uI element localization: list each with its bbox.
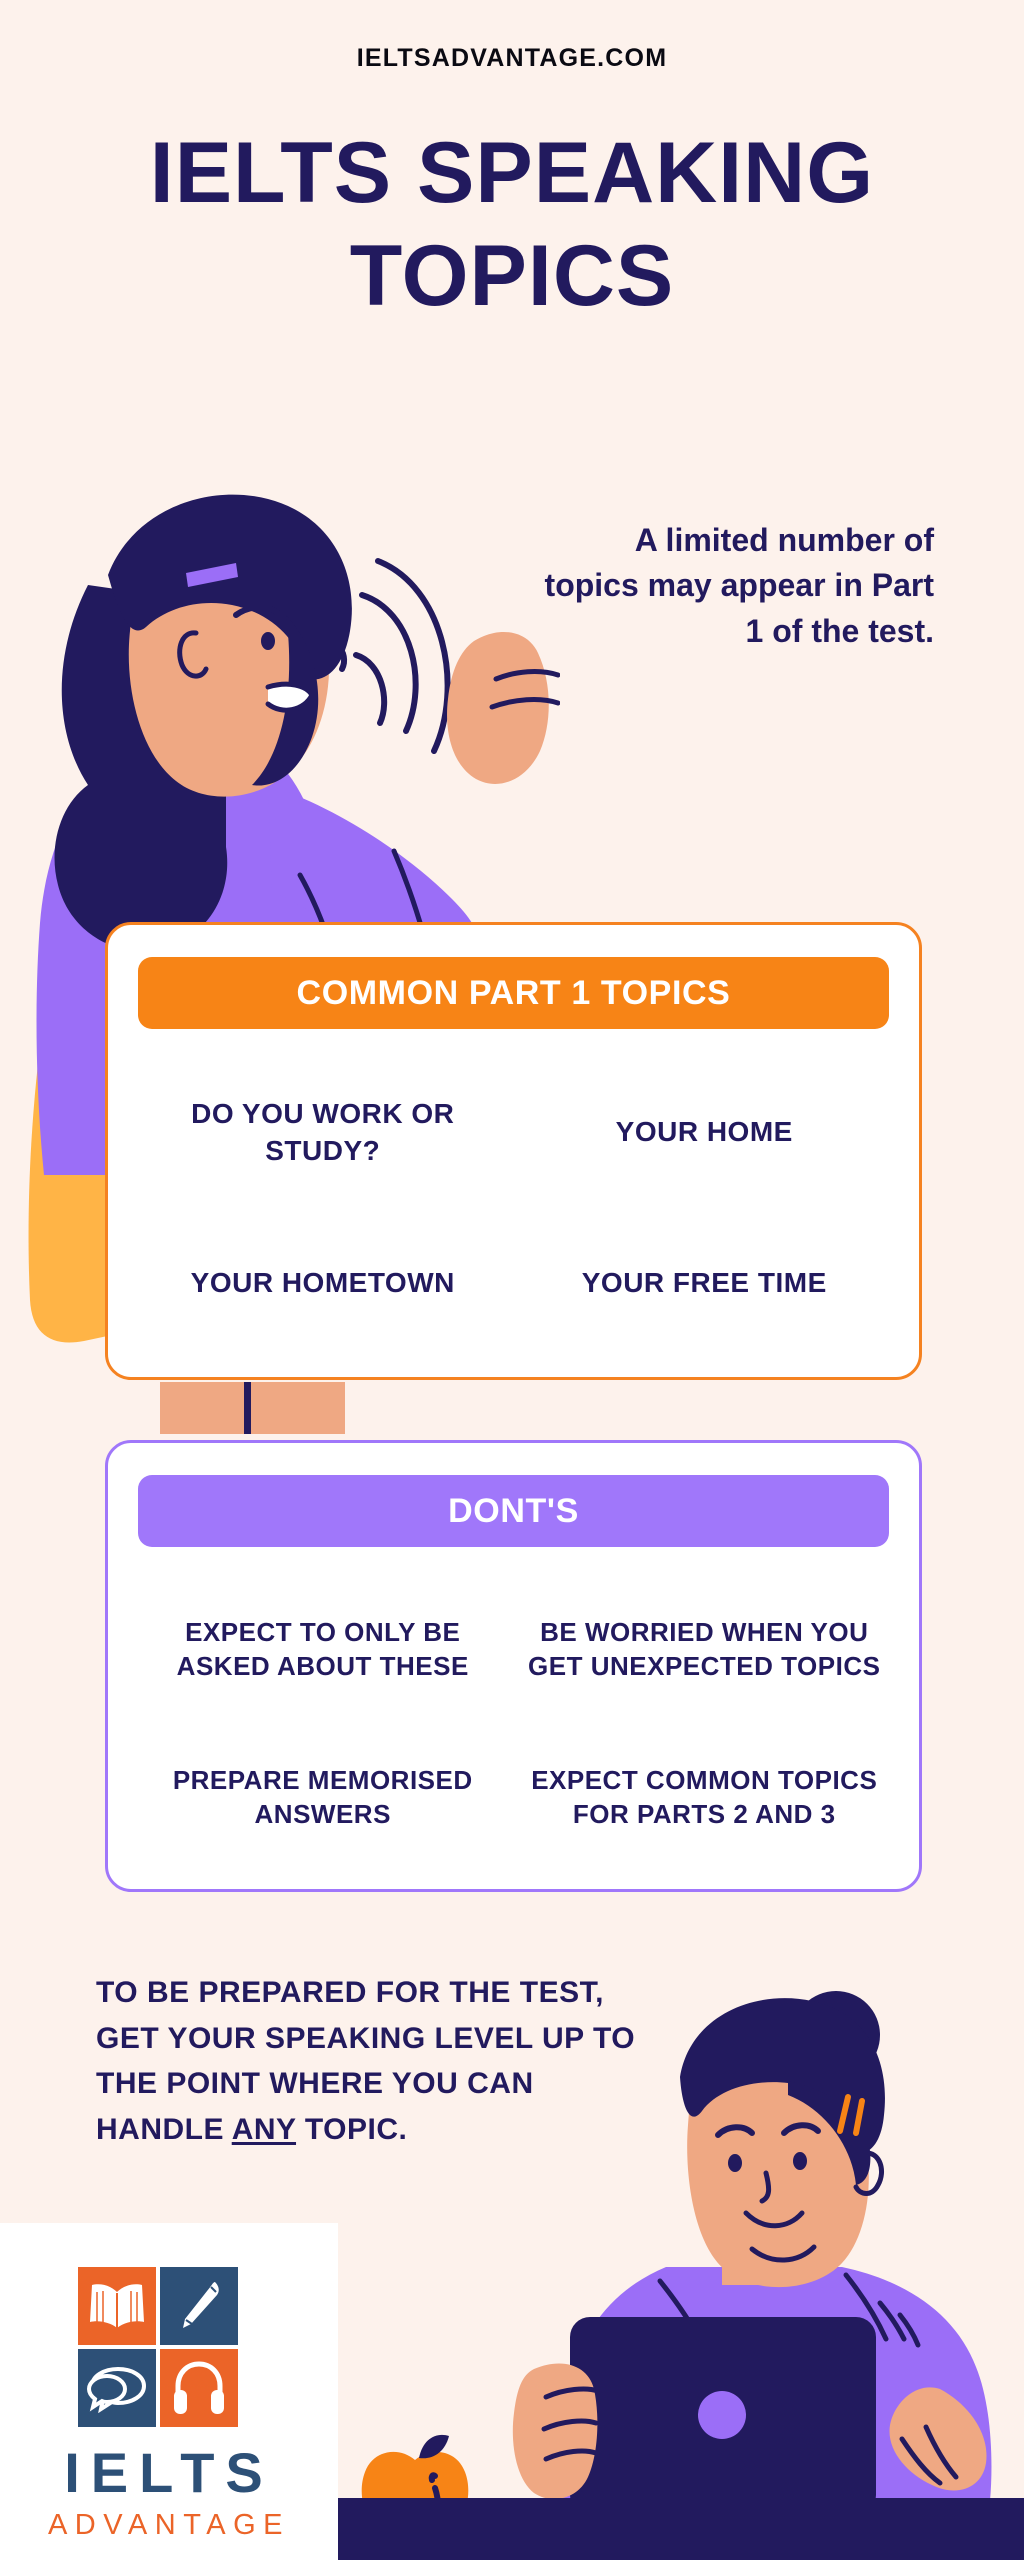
card-donts: DONT'S EXPECT TO ONLY BE ASKED ABOUT THE… [105,1440,922,1892]
closing-statement: TO BE PREPARED FOR THE TEST, GET YOUR SP… [96,1970,656,2152]
intro-paragraph: A limited number of topics may appear in… [540,518,934,654]
forearm-segment [160,1382,345,1434]
pen-icon [160,2267,238,2345]
logo-subtitle: ADVANTAGE [0,2511,338,2540]
infographic-canvas: IELTSADVANTAGE.COM IELTS SPEAKING TOPICS… [0,0,1024,2560]
speech-bubbles-icon [78,2349,156,2427]
headphones-icon [160,2349,238,2427]
logo-wordmark: IELTS [0,2445,338,2501]
dont-item: PREPARE MEMORISED ANSWERS [136,1763,510,1832]
topic-item: YOUR HOMETOWN [185,1265,461,1301]
dont-item: EXPECT TO ONLY BE ASKED ABOUT THESE [136,1615,510,1684]
card-donts-header: DONT'S [138,1475,889,1547]
closing-text-part-2: TOPIC. [296,2113,407,2146]
card-common-header: COMMON PART 1 TOPICS [138,957,889,1029]
closing-emphasis-any: ANY [232,2113,296,2146]
topic-item: YOUR FREE TIME [576,1265,833,1301]
page-title-line-1: IELTS SPEAKING [0,122,1024,225]
logo-tile-grid [78,2267,238,2427]
forearm-crease [244,1382,251,1434]
open-book-icon [78,2267,156,2345]
topic-item: DO YOU WORK OR STUDY? [136,1096,510,1169]
dont-item: BE WORRIED WHEN YOU GET UNEXPECTED TOPIC… [517,1615,891,1684]
page-title-line-2: TOPICS [0,225,1024,328]
logo-panel: IELTS ADVANTAGE [0,2223,338,2560]
card-common-part-1-topics: COMMON PART 1 TOPICS DO YOU WORK OR STUD… [105,922,922,1380]
dont-item: EXPECT COMMON TOPICS FOR PARTS 2 AND 3 [517,1763,891,1832]
card-common-topic-grid: DO YOU WORK OR STUDY? YOUR HOME YOUR HOM… [132,1057,895,1359]
site-url: IELTSADVANTAGE.COM [0,44,1024,73]
card-donts-item-grid: EXPECT TO ONLY BE ASKED ABOUT THESE BE W… [132,1575,895,1871]
topic-item: YOUR HOME [610,1114,799,1150]
page-title: IELTS SPEAKING TOPICS [0,122,1024,328]
